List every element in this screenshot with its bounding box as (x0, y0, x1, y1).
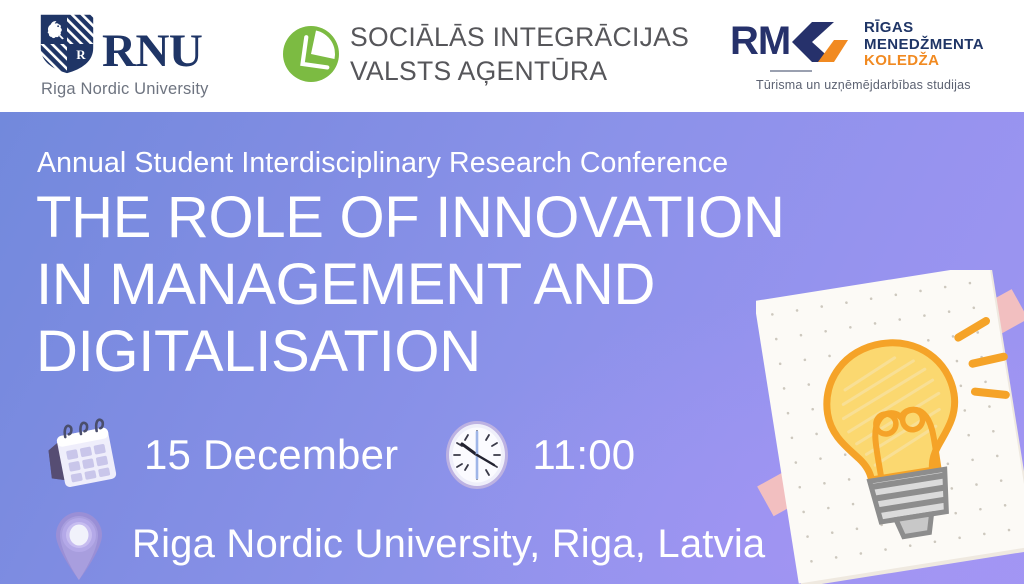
rmk-divider (770, 70, 812, 72)
title-line-1: THE ROLE OF INNOVATION (36, 184, 866, 251)
logo-siva: SOCIĀLĀS INTEGRĀCIJAS VALSTS AĢENTŪRA (282, 22, 682, 88)
rnu-subtitle: Riga Nordic University (41, 80, 209, 99)
date-text: 15 December (144, 431, 398, 479)
rmk-line-1: RĪGAS (864, 20, 984, 37)
calendar-icon (44, 414, 122, 496)
location-text: Riga Nordic University, Riga, Latvia (132, 522, 765, 567)
rmk-name: RĪGAS MENEDŽMENTA KOLEDŽA (864, 20, 984, 70)
rmk-wordmark-icon: RM (730, 18, 860, 64)
conference-eyebrow: Annual Student Interdisciplinary Researc… (37, 147, 728, 180)
siva-line-2: VALSTS AĢENTŪRA (350, 54, 689, 88)
siva-line-1: SOCIĀLĀS INTEGRĀCIJAS (350, 20, 689, 54)
rnu-wordmark: RNU (102, 28, 202, 75)
date-time-row: 15 December (44, 410, 635, 500)
logo-rnu: R RNU Riga Nordic University (38, 12, 268, 100)
conference-poster: R RNU Riga Nordic University SOCIĀLĀS IN… (0, 0, 1024, 584)
title-line-2: IN MANAGEMENT AND (36, 251, 866, 318)
rnu-shield-icon: R (38, 12, 96, 76)
map-pin-icon (50, 506, 108, 582)
rmk-line-3: KOLEDŽA (864, 53, 984, 70)
logo-rmk: RM RĪGAS MENEDŽMENTA KOLEDŽA Tūrisma un … (730, 18, 992, 102)
poster-body: Annual Student Interdisciplinary Researc… (0, 112, 1024, 584)
rmk-tagline: Tūrisma un uzņēmējdarbības studijas (756, 78, 971, 92)
siva-circle-icon (282, 25, 340, 83)
rmk-line-2: MENEDŽMENTA (864, 37, 984, 54)
location-row: Riga Nordic University, Riga, Latvia (50, 504, 765, 584)
clock-icon (442, 418, 512, 492)
svg-text:RM: RM (730, 19, 790, 63)
sponsor-logo-band: R RNU Riga Nordic University SOCIĀLĀS IN… (0, 0, 1024, 112)
poster-title: THE ROLE OF INNOVATION IN MANAGEMENT AND… (36, 184, 866, 385)
time-text: 11:00 (532, 431, 635, 479)
siva-name: SOCIĀLĀS INTEGRĀCIJAS VALSTS AĢENTŪRA (350, 20, 689, 88)
svg-text:R: R (76, 47, 86, 62)
title-line-3: DIGITALISATION (36, 318, 866, 385)
